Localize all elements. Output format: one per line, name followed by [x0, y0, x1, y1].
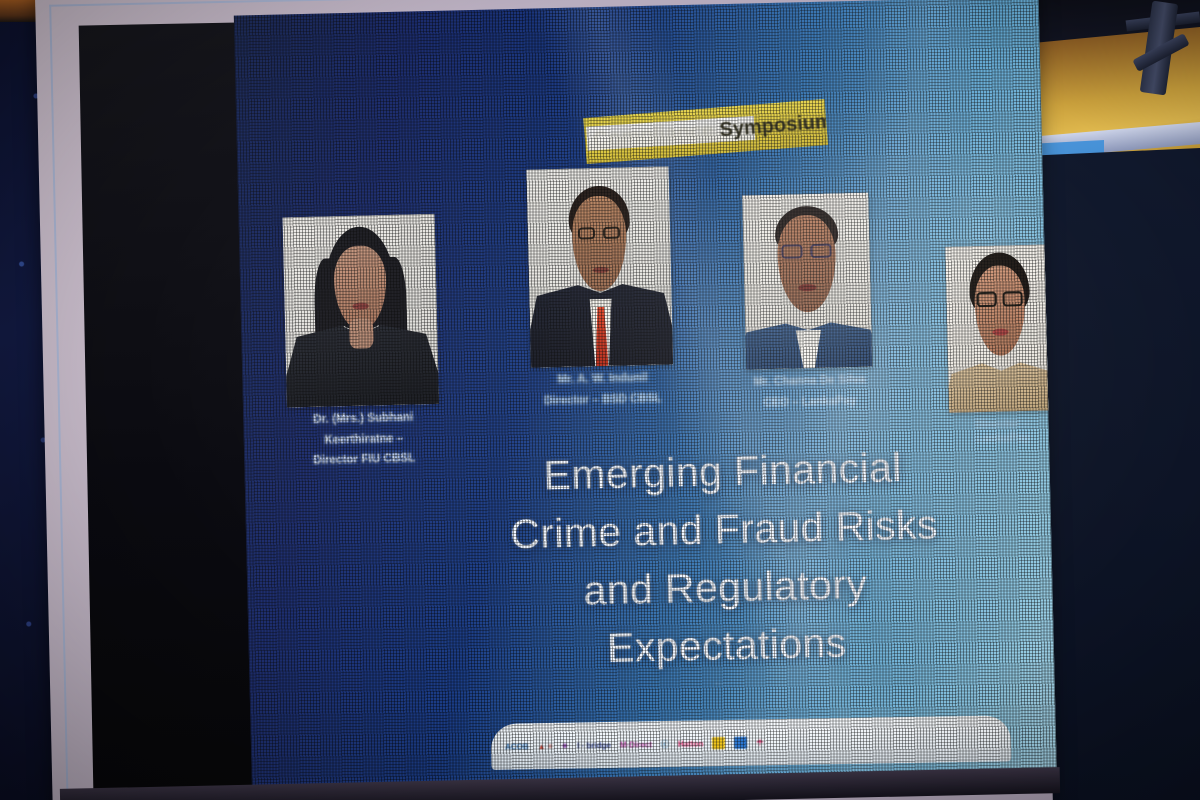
- sponsor-logo-2: ▲ ≡: [538, 741, 553, 750]
- presentation-slide: Compliance Symposium Dr. (Mrs.) Subhani …: [234, 0, 1057, 800]
- event-banner-word-faded: Compliance: [592, 119, 715, 153]
- photographed-presentation-scene: Compliance Symposium Dr. (Mrs.) Subhani …: [0, 0, 1200, 800]
- speaker-3-role: CEO – LankaPay: [747, 394, 873, 410]
- title-line-2: Crime and Fraud Risks: [463, 494, 984, 564]
- headshot-1: [283, 214, 439, 408]
- speaker-3-name-line1: Mr. Channa De Silva: [746, 374, 872, 390]
- speaker-2-role: Director – BSD CBSL: [532, 392, 674, 409]
- event-banner-word-symposium: Symposium: [719, 110, 828, 142]
- sponsor-logo-10: ☂: [756, 738, 763, 747]
- sponsor-logo-9: [734, 737, 747, 749]
- speaker-2-name-line1: Mr. A. W. Indunil: [531, 371, 673, 388]
- speaker-photo-3: [742, 193, 872, 370]
- sponsor-logo-5: M·Direct: [620, 740, 652, 750]
- sponsor-logo-6: ⓒ: [661, 738, 669, 749]
- speaker-photo-2: [526, 166, 673, 367]
- speaker-card-2: Mr. A. W. Indunil Director – BSD CBSL: [526, 166, 674, 408]
- title-line-4: Expectations: [466, 610, 987, 680]
- sponsor-logo-strip: ACOB▲ ≡✷I · bridgeM·DirectⓒHatton☂: [491, 715, 1012, 770]
- sponsor-logo-3: ✷: [561, 741, 568, 750]
- event-banner: Compliance Symposium: [583, 99, 828, 164]
- speaker-card-1: Dr. (Mrs.) Subhani Keerthiratne – Direct…: [283, 214, 441, 469]
- speaker-1-name-line2: Keerthiratne –: [288, 431, 440, 448]
- headshot-2: [526, 166, 673, 367]
- speaker-card-3: Mr. Channa De Silva CEO – LankaPay: [742, 193, 873, 411]
- headshot-4: [945, 244, 1055, 412]
- sponsor-logo-8: [712, 737, 725, 749]
- inactive-led-panel: [79, 23, 254, 792]
- speaker-1-name-line1: Dr. (Mrs.) Subhani: [287, 411, 439, 428]
- speaker-photo-1: [283, 214, 439, 408]
- speaker-card-4: Director – LankaPay: [945, 244, 1056, 446]
- headshot-3: [742, 193, 872, 370]
- speaker-photo-4: [945, 244, 1055, 412]
- speaker-1-role: Director FIU CBSL: [288, 452, 440, 469]
- sponsor-logo-1: ACOB: [505, 742, 529, 751]
- slide-title: Emerging Financial Crime and Fraud Risks…: [462, 436, 987, 680]
- sponsor-logo-4: I · bridge: [577, 740, 611, 750]
- sponsor-logo-7: Hatton: [678, 739, 703, 748]
